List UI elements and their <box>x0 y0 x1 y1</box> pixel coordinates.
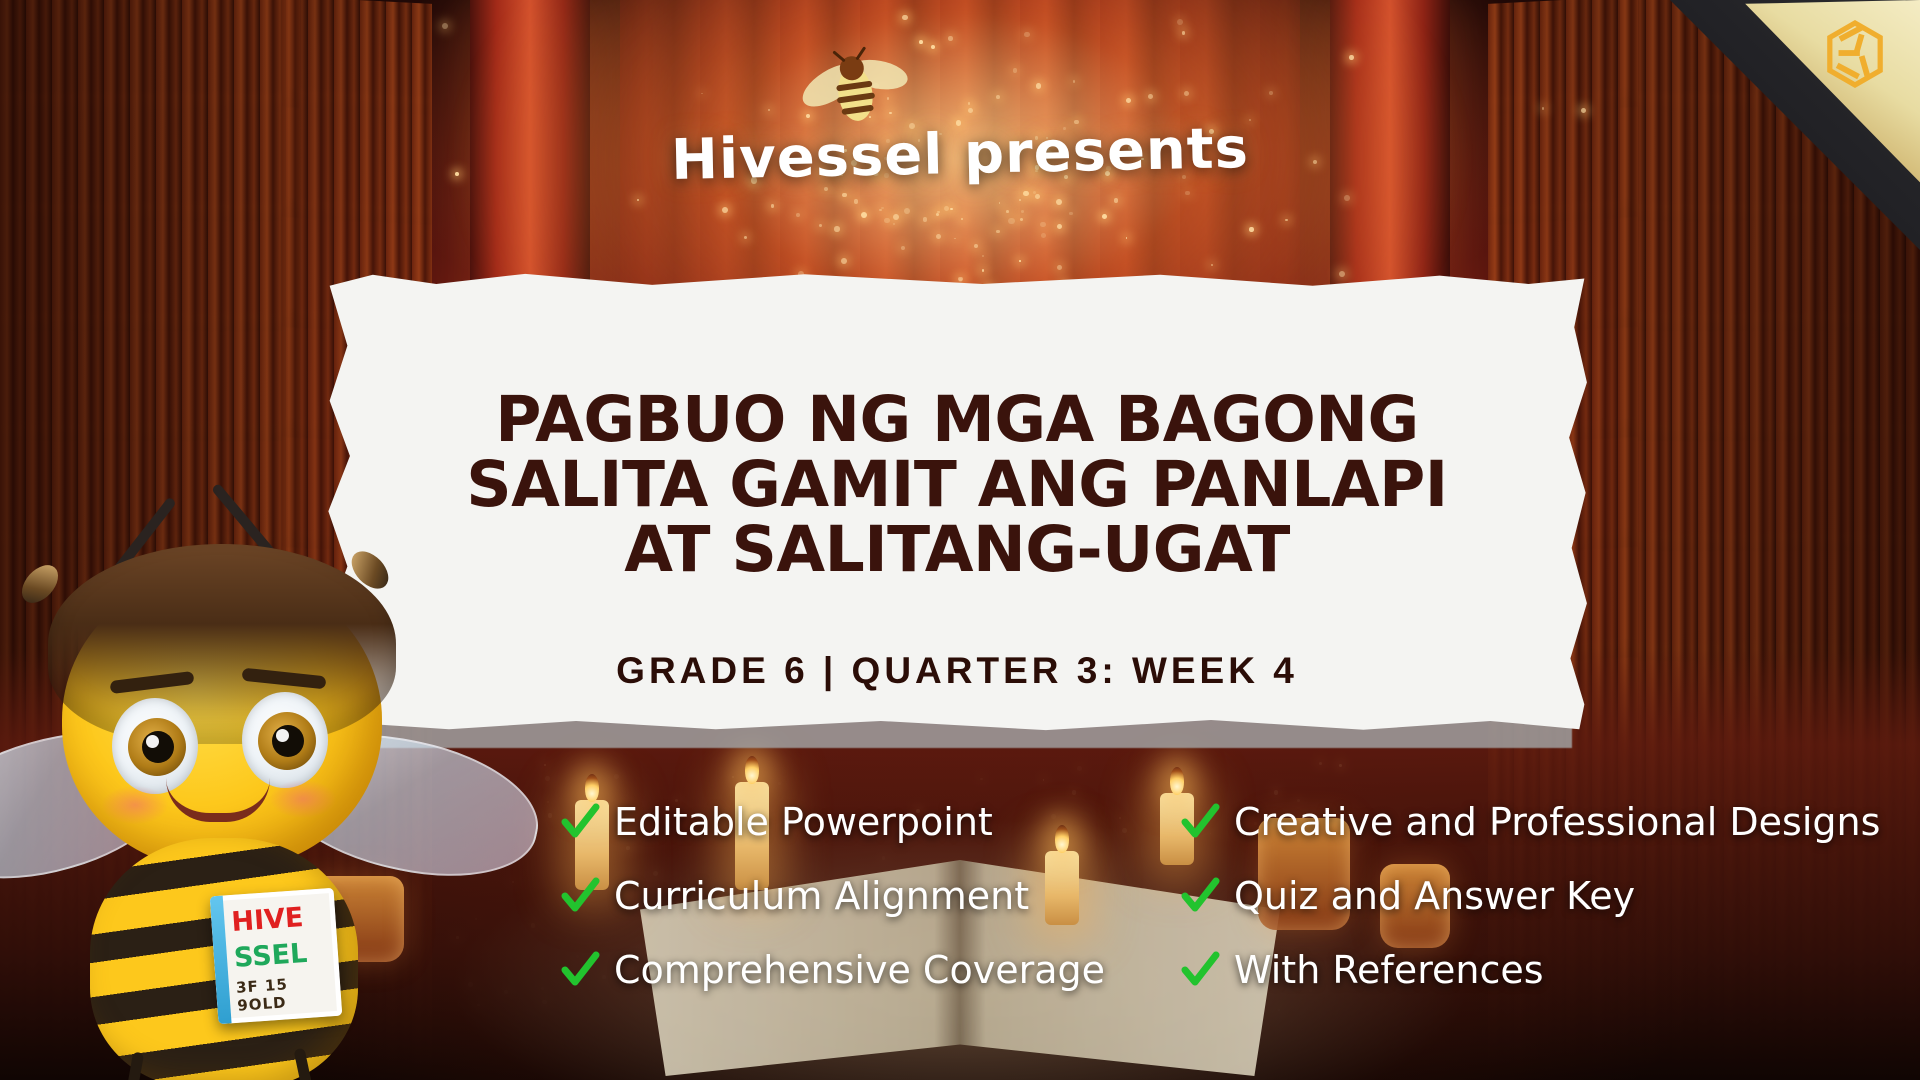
bee-mascot-icon: HIVE SSEL 3F 15 9OLD <box>0 440 530 1080</box>
feature-label: Editable Powerpoint <box>614 800 993 844</box>
book-line-1: HIVE <box>231 904 305 936</box>
feature-label: With References <box>1234 948 1544 992</box>
antenna-ball-left <box>15 558 65 609</box>
list-item: Creative and Professional Designs <box>1180 800 1920 844</box>
feature-list: Editable Powerpoint Creative and Profess… <box>560 800 1920 992</box>
cheek-right <box>270 780 336 818</box>
mascot-book: HIVE SSEL 3F 15 9OLD <box>210 888 343 1024</box>
feature-label: Curriculum Alignment <box>614 874 1029 918</box>
eye-right <box>242 692 328 788</box>
book-line-2: SSEL <box>233 940 308 972</box>
feature-label: Creative and Professional Designs <box>1234 800 1880 844</box>
mascot-hair <box>48 544 396 744</box>
green-check-icon <box>560 802 600 842</box>
feature-label: Quiz and Answer Key <box>1234 874 1635 918</box>
poster-canvas: Hivessel presents PAGBUO NG MGA BAGONG S… <box>0 0 1920 1080</box>
book-line-3: 3F 15 9OLD <box>235 972 341 1015</box>
list-item: Comprehensive Coverage <box>560 948 1180 992</box>
green-check-icon <box>1180 802 1220 842</box>
green-check-icon <box>560 950 600 990</box>
green-check-icon <box>560 876 600 916</box>
list-item: Curriculum Alignment <box>560 874 1180 918</box>
list-item: With References <box>1180 948 1920 992</box>
green-check-icon <box>1180 876 1220 916</box>
cheek-left <box>102 786 168 824</box>
presents-tagline: Hivessel presents <box>670 116 1249 193</box>
list-item: Quiz and Answer Key <box>1180 874 1920 918</box>
list-item: Editable Powerpoint <box>560 800 1180 844</box>
feature-label: Comprehensive Coverage <box>614 948 1105 992</box>
hexagon-s-logo-icon[interactable] <box>1824 20 1886 88</box>
green-check-icon <box>1180 950 1220 990</box>
